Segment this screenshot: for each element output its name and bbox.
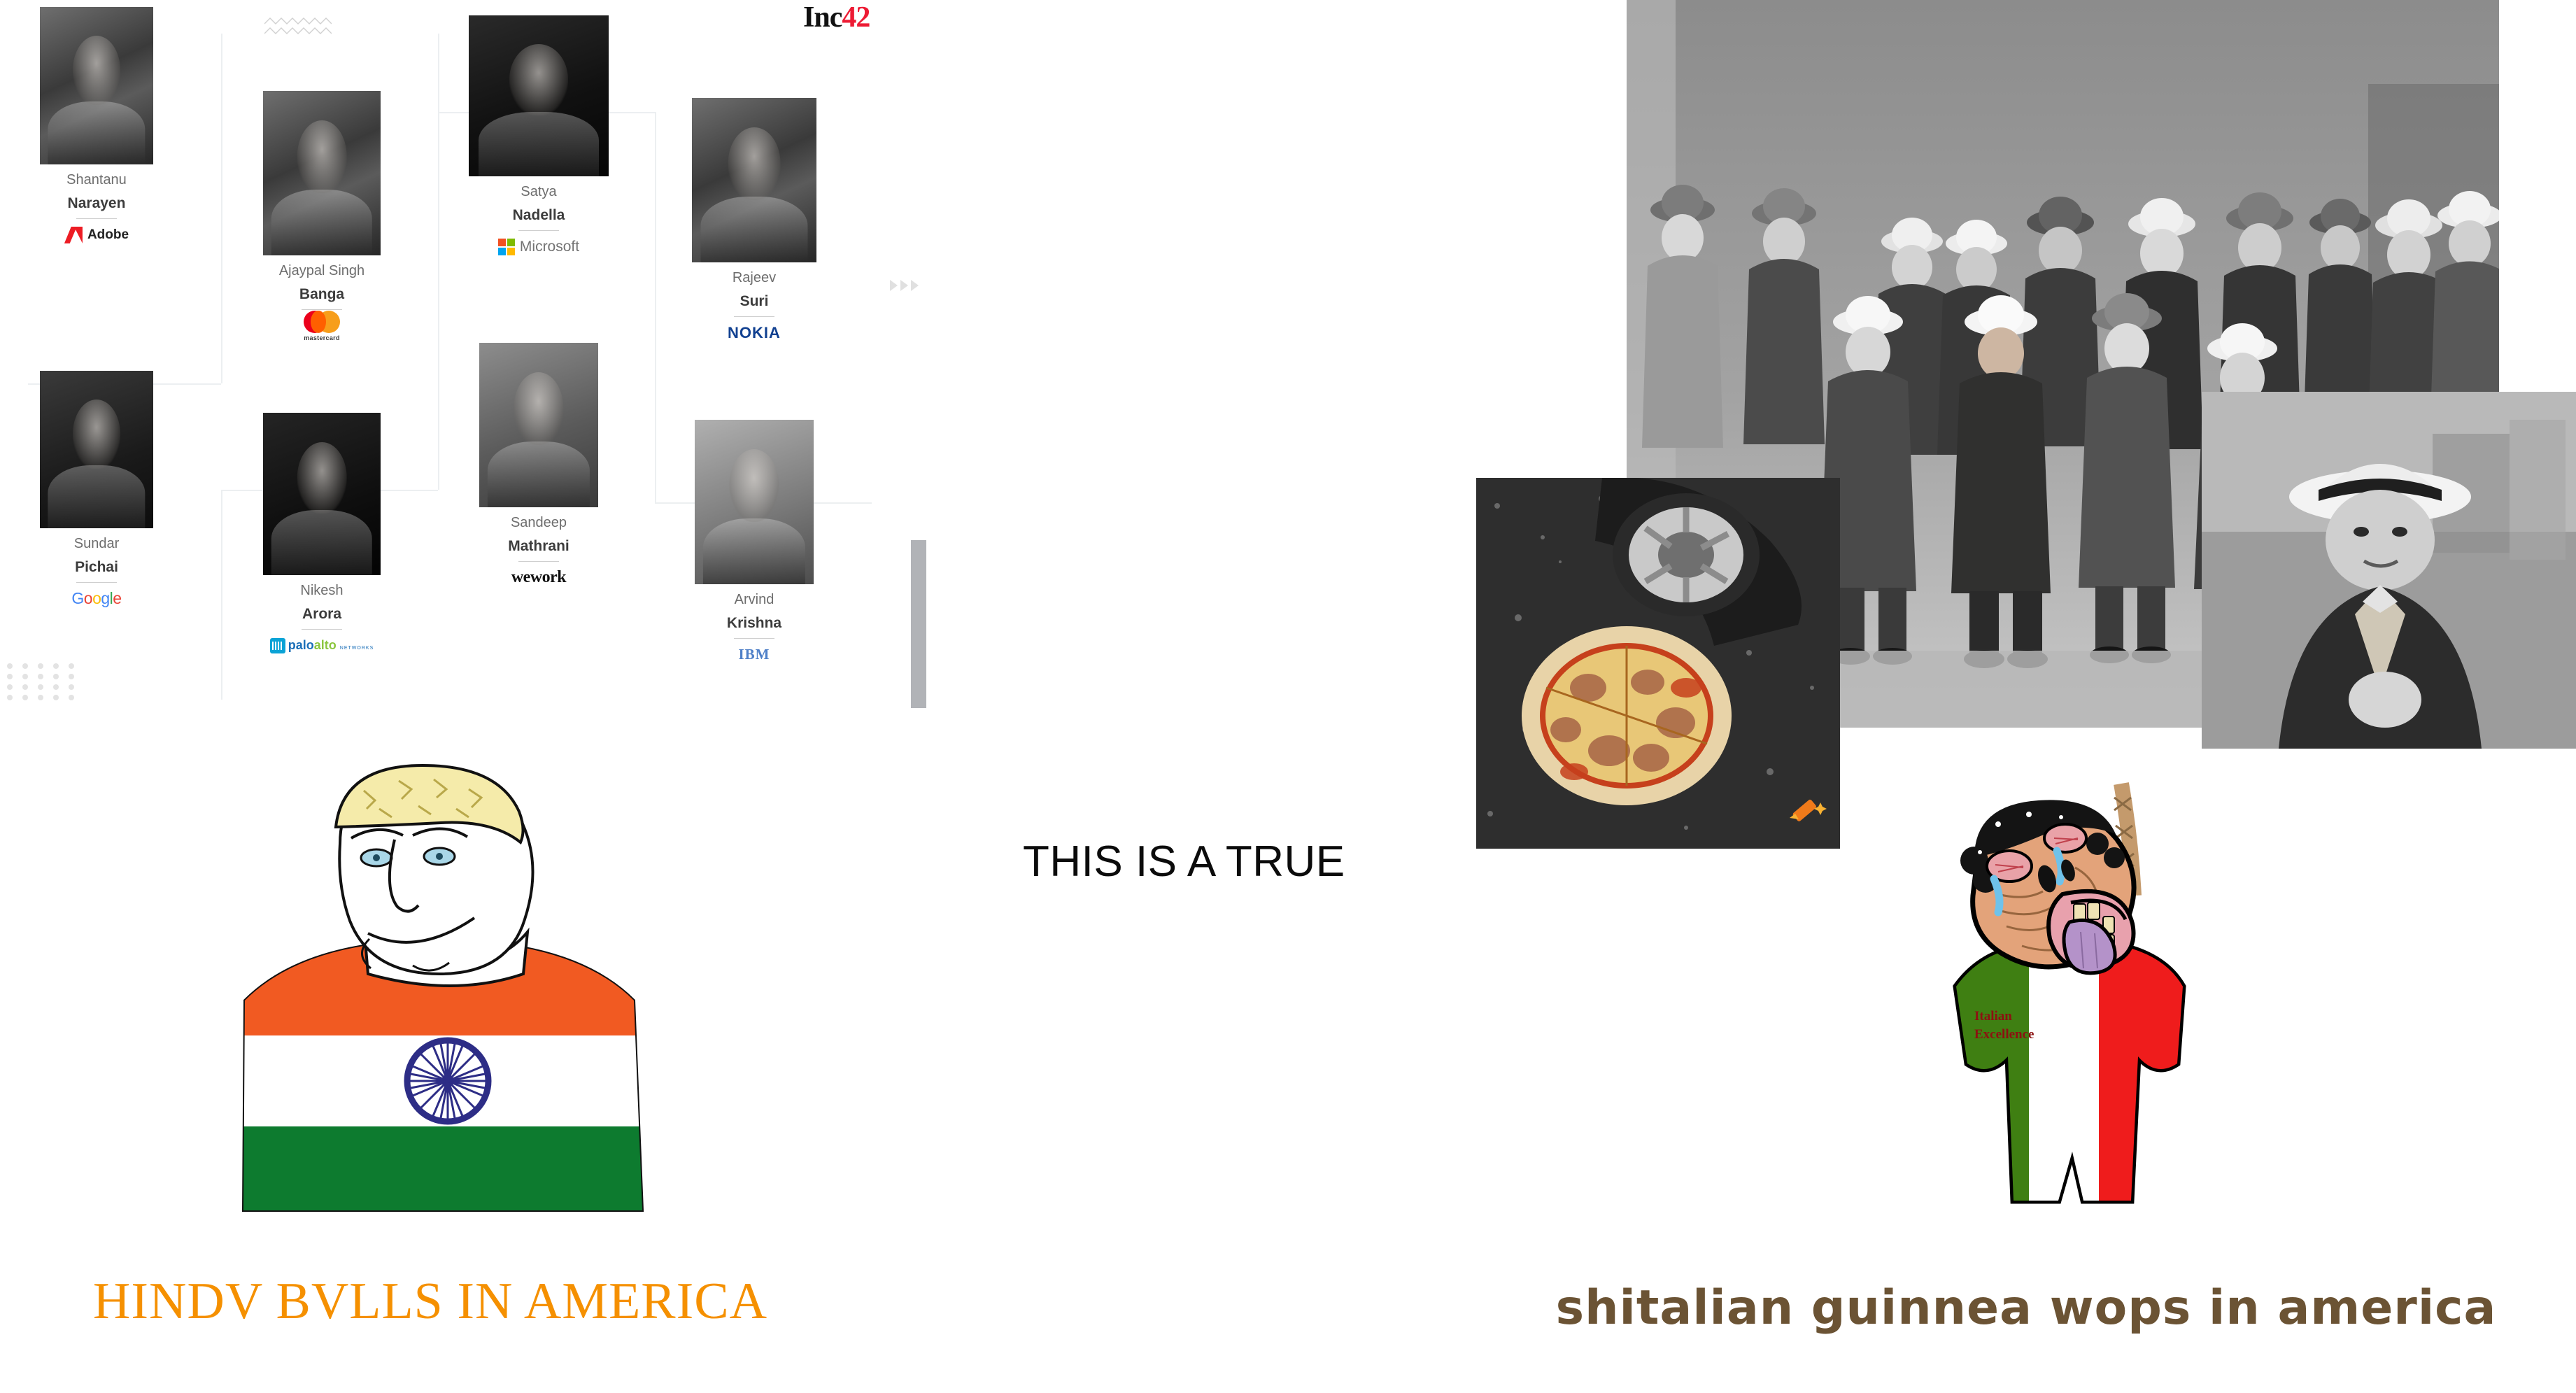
company-logo-adobe: Adobe [6, 225, 187, 246]
divider [221, 490, 222, 700]
card-divider [734, 638, 774, 639]
hindu-bull-wojak-illustration [203, 763, 707, 1252]
zigzag-decoration-icon [264, 15, 332, 36]
company-logo-mastercard: mastercard [231, 316, 413, 337]
right-caption: shitalian guinnea wops in america [1476, 1280, 2576, 1336]
divider [221, 34, 222, 383]
company-logo-google: Google [6, 588, 187, 609]
company-name: Google [71, 589, 121, 608]
ceo-portrait-photo [263, 413, 381, 575]
ceo-first-name: Nikesh [231, 583, 413, 598]
company-name-part1: palo [288, 638, 314, 652]
divider [438, 34, 439, 490]
shirt-text-line1: Italian [1974, 1009, 2012, 1024]
ceo-portrait-photo [692, 98, 816, 262]
company-logo-nokia: NOKIA [663, 323, 845, 344]
company-name: IBM [739, 646, 770, 663]
card-divider [518, 230, 559, 231]
inc42-logo-number: 42 [842, 1, 870, 34]
paloalto-mark-icon [270, 638, 285, 653]
ceo-card[interactable]: Rajeev Suri NOKIA [663, 98, 845, 344]
left-caption: HINDV BVLLS IN AMERICA [0, 1272, 861, 1331]
al-capone-photo-content [2202, 392, 2576, 749]
company-name: Adobe [87, 227, 129, 243]
ceo-last-name: Banga [231, 286, 413, 303]
ceo-first-name: Rajeev [663, 270, 845, 285]
company-name: NOKIA [728, 324, 781, 342]
card-divider [302, 629, 342, 630]
company-name: Microsoft [520, 239, 579, 255]
italian-wojak-content: Italian Excellence [1931, 777, 2211, 1252]
card-divider [76, 582, 117, 583]
company-logo-wework: wework [448, 567, 630, 588]
ceo-card[interactable]: Sundar Pichai Google [6, 371, 187, 609]
card-divider [734, 316, 774, 317]
ceo-first-name: Shantanu [6, 172, 187, 188]
company-logo-microsoft: Microsoft [448, 236, 630, 257]
company-name-part2: alto [314, 638, 337, 652]
divider [655, 112, 656, 504]
vertical-scrollbar[interactable] [911, 540, 926, 708]
ceo-first-name: Sundar [6, 536, 187, 551]
card-divider [518, 561, 559, 562]
company-name-subtitle: NETWORKS [340, 646, 374, 651]
card-divider [302, 309, 342, 310]
ceo-card[interactable]: Shantanu Narayen Adobe [6, 7, 187, 246]
card-divider [76, 218, 117, 219]
ceo-first-name: Arvind [663, 592, 845, 607]
inc42-ceo-infographic: Inc42 Shantanu Narayen [0, 0, 941, 742]
pizza-photo-content [1476, 478, 1840, 849]
company-logo-paloalto: paloalto NETWORKS [231, 635, 413, 656]
company-logo-ibm: IBM [663, 644, 845, 665]
ceo-last-name: Krishna [663, 615, 845, 632]
ceo-card[interactable]: Nikesh Arora paloalto NETWORKS [231, 413, 413, 656]
ceo-last-name: Narayen [6, 195, 187, 212]
chevron-right-decoration-icon [890, 280, 932, 297]
ceo-portrait-photo [479, 343, 598, 507]
ceo-last-name: Nadella [448, 207, 630, 224]
shirt-text-line2: Excellence [1974, 1027, 2034, 1042]
company-name: wework [511, 568, 566, 587]
ceo-last-name: Suri [663, 293, 845, 310]
ceo-card[interactable]: Ajaypal Singh Banga mastercard [231, 91, 413, 337]
mastercard-circles-icon [304, 311, 340, 333]
inc42-logo: Inc42 [803, 3, 870, 32]
al-capone-photo [2202, 392, 2576, 749]
dot-grid-decoration-icon [7, 663, 84, 704]
bull-wojak-content [203, 763, 707, 1252]
adobe-a-icon [64, 227, 83, 243]
ceo-first-name: Satya [448, 184, 630, 199]
ceo-last-name: Arora [231, 606, 413, 623]
inc42-logo-word: Inc [803, 1, 842, 34]
ceo-last-name: Mathrani [448, 538, 630, 555]
center-caption: THIS IS A TRUE [1023, 837, 1345, 886]
ceo-first-name: Sandeep [448, 515, 630, 530]
ceo-portrait-photo [40, 371, 153, 528]
meme-canvas: Inc42 Shantanu Narayen [0, 0, 2576, 1393]
ceo-card[interactable]: Arvind Krishna IBM [663, 420, 845, 665]
ceo-card[interactable]: Sandeep Mathrani wework [448, 343, 630, 588]
ceo-portrait-photo [40, 7, 153, 164]
ceo-first-name: Ajaypal Singh [231, 263, 413, 278]
ceo-portrait-photo [263, 91, 381, 255]
microsoft-squares-icon [498, 239, 515, 255]
ceo-last-name: Pichai [6, 559, 187, 576]
ceo-portrait-photo [469, 15, 609, 176]
company-name: mastercard [304, 334, 340, 341]
pizza-on-road-photo [1476, 478, 1840, 849]
italian-wojak-illustration: Italian Excellence [1931, 777, 2211, 1252]
ceo-portrait-photo [695, 420, 814, 584]
ceo-card[interactable]: Satya Nadella Microsoft [448, 15, 630, 257]
